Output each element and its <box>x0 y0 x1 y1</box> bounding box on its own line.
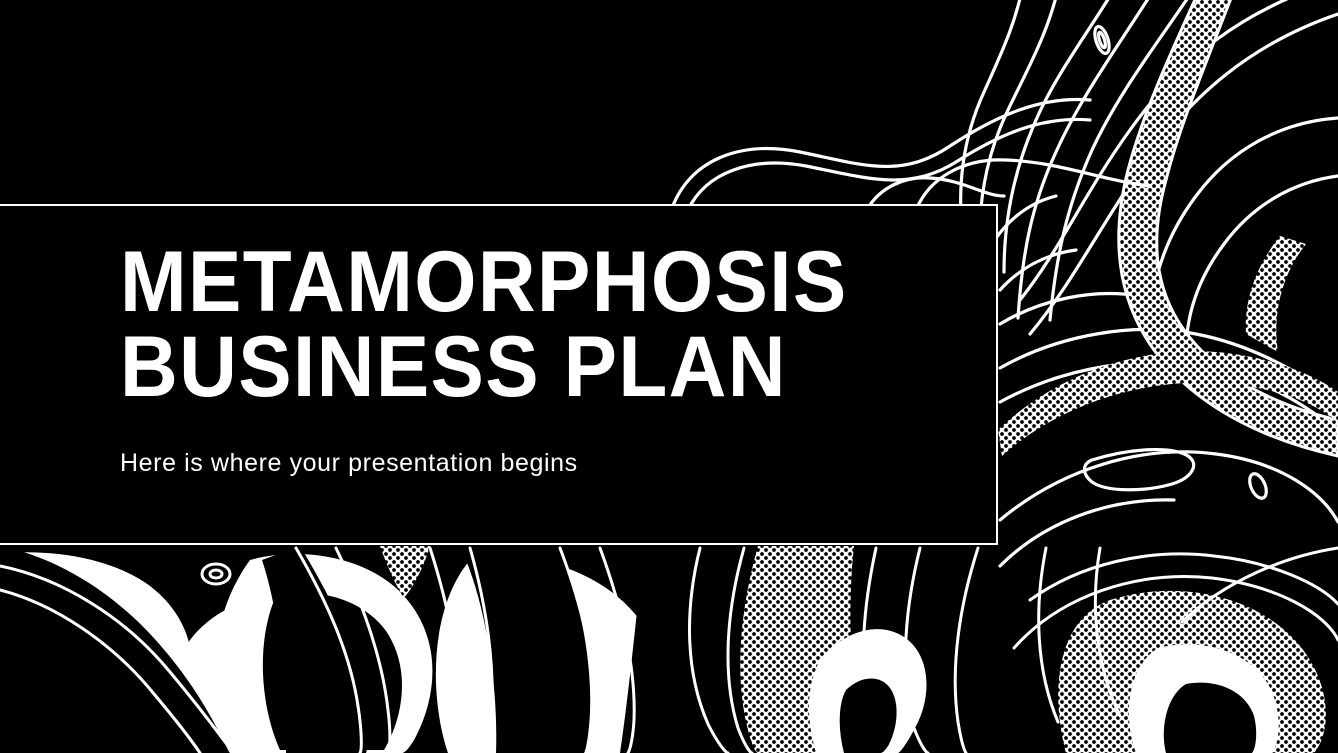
slide-subtitle: Here is where your presentation begins <box>120 410 956 478</box>
title-slide: Metamorphosis Business Plan Here is wher… <box>0 0 1338 753</box>
title-card: Metamorphosis Business Plan Here is wher… <box>0 204 998 545</box>
title-card-content: Metamorphosis Business Plan Here is wher… <box>120 240 956 478</box>
page-title: Metamorphosis Business Plan <box>120 240 897 410</box>
